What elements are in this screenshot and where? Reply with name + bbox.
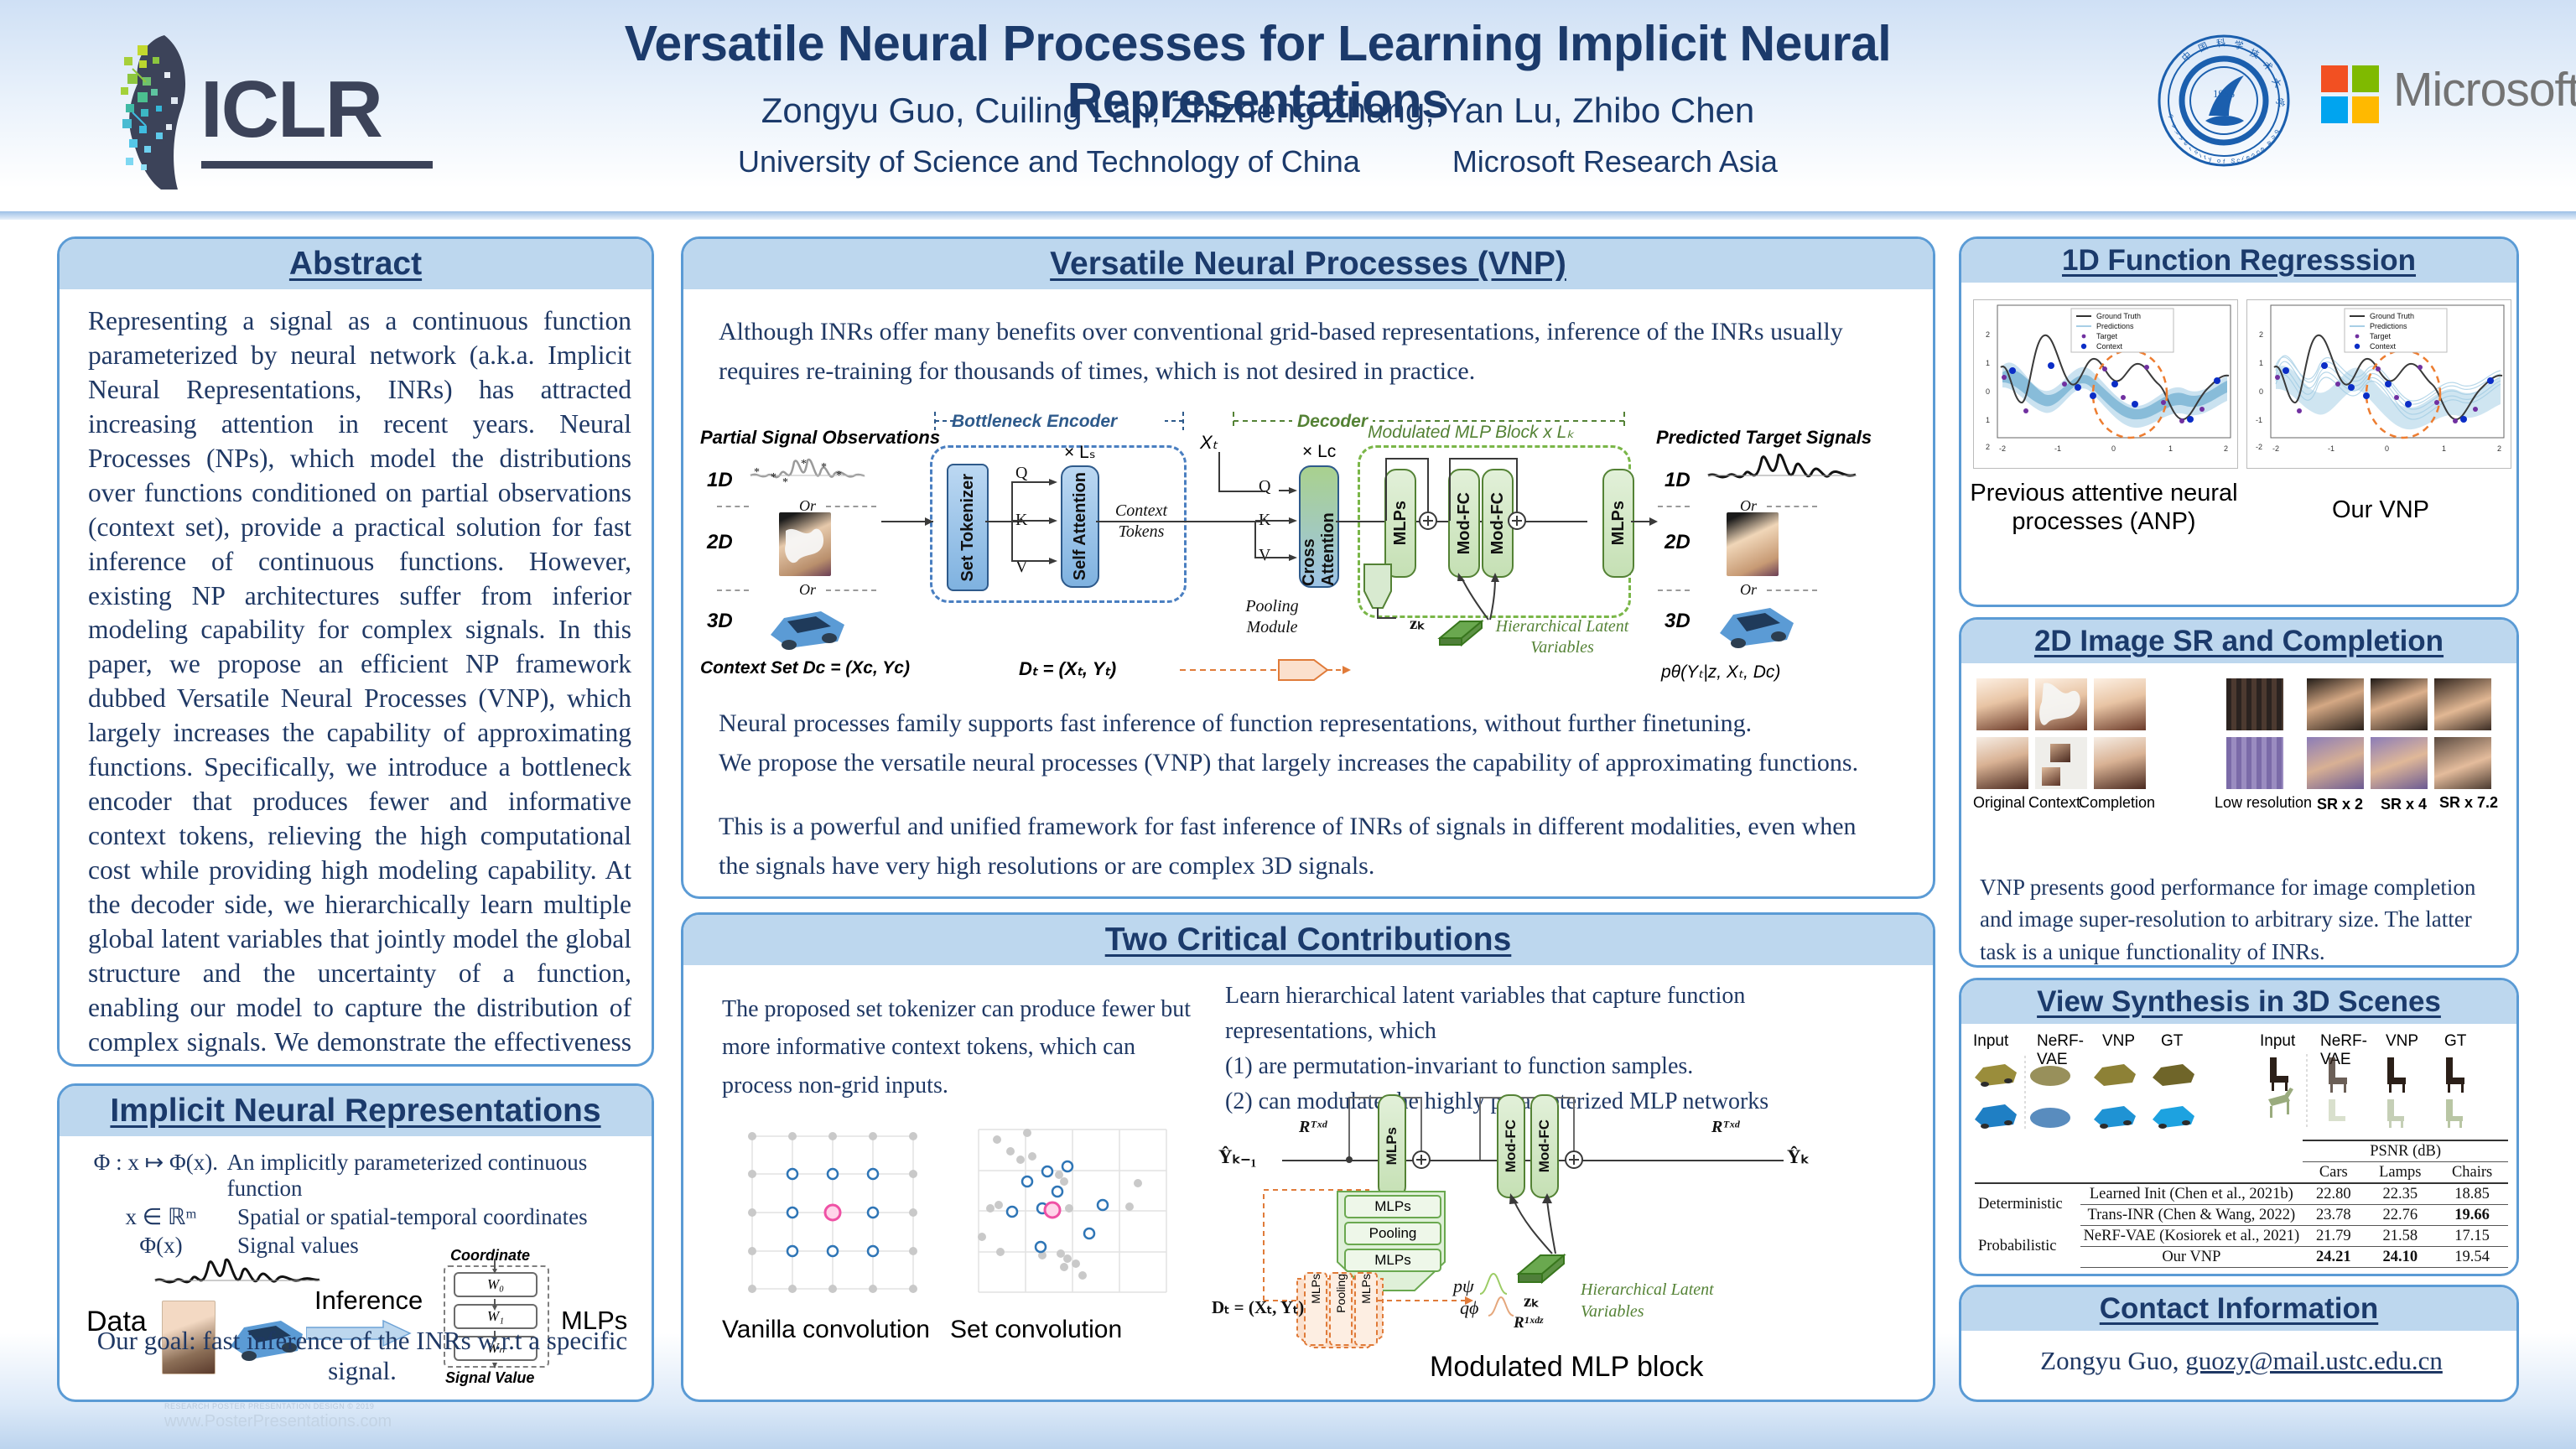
- inr-symbol: x ∈ ℝᵐ: [85, 1204, 237, 1230]
- mask-overlay-icon: [779, 512, 831, 576]
- cross-qkv-arrows-icon: [1254, 484, 1301, 568]
- input-arrowhead-icon: [925, 516, 937, 527]
- vs-header-vnp-cars: VNP: [2102, 1032, 2135, 1051]
- or-dash-right-1b: [1767, 506, 1817, 507]
- microsoft-wordmark: Microsoft: [2393, 62, 2576, 117]
- psnr-col-lamps: Lamps: [2364, 1162, 2436, 1184]
- poster-footer: RESEARCH POSTER PRESENTATION DESIGN © 20…: [164, 1402, 392, 1431]
- mlp-block-zk-label: zₖ: [1524, 1291, 1539, 1311]
- vs-header-gt-cars: GT: [2161, 1032, 2183, 1051]
- vnp-outro-line-2: We propose the versatile neural processe…: [719, 744, 1893, 783]
- psnr-method-nerf-vae: NeRF-VAE (Kosiorek et al., 2021): [2080, 1226, 2303, 1247]
- anp-plot-caption: Previous attentive neural processes (ANP…: [1970, 479, 2238, 536]
- svg-text:i: i: [2199, 152, 2202, 159]
- mlp-block-modfc-label-1: Mod-FC: [1503, 1119, 1519, 1172]
- abstract-text: Representing a signal as a continuous fu…: [88, 304, 631, 1067]
- latent-modfc-arrows-icon: [1504, 1192, 1596, 1257]
- sr-x4-1: [2371, 678, 2428, 730]
- contribution-left-text: The proposed set tokenizer can produce f…: [722, 990, 1192, 1104]
- contact-name: Zongyu Guo,: [2040, 1346, 2185, 1375]
- svg-text:2: 2: [1986, 330, 1990, 339]
- target-flow-arrow-icon: [1180, 655, 1373, 685]
- affiliation-2: Microsoft Research Asia: [1452, 144, 1778, 179]
- self-attention-label: Self Attention: [1071, 472, 1090, 580]
- mlp-block-input-label: Ŷₖ₋₁: [1218, 1146, 1256, 1168]
- psnr-value: 21.58: [2364, 1226, 2436, 1247]
- svg-text:-2: -2: [2272, 444, 2279, 453]
- ms-square-green: [2352, 65, 2379, 92]
- function-regression-panel: 1D Function Regresssion: [1959, 236, 2519, 607]
- posterior-dashed-path-icon: [1260, 1166, 1478, 1309]
- svg-text:学: 学: [2273, 96, 2287, 108]
- table-row: Deterministic Learned Init (Chen et al.,…: [1975, 1183, 2508, 1205]
- vs-header-input-chairs: Input: [2260, 1032, 2295, 1051]
- iclr-brain-icon: [112, 32, 205, 191]
- inr-definition-row: Φ : x ↦ Φ(x). An implicitly parameterize…: [85, 1150, 638, 1202]
- inr-inference-label: Inference: [314, 1285, 423, 1316]
- svg-text:学: 学: [2234, 39, 2245, 51]
- mlp-block-mlps-label: MLPs: [1384, 1127, 1400, 1165]
- svg-text:*: *: [801, 458, 807, 470]
- psnr-group-probabilistic: Probabilistic: [1975, 1226, 2080, 1268]
- psnr-col-cars: Cars: [2303, 1162, 2364, 1184]
- completion-result-2: [2094, 737, 2146, 789]
- psnr-metric-header-row: PSNR (dB): [1975, 1140, 2508, 1162]
- cars-render-row: [1971, 1051, 2215, 1133]
- contact-line: Zongyu Guo, guozy@mail.ustc.edu.cn: [1961, 1346, 2519, 1376]
- svg-text:o: o: [2217, 157, 2220, 164]
- cross-attention-label: Cross Attention: [1300, 467, 1338, 586]
- microsoft-logo: Microsoft: [2321, 65, 2556, 132]
- vnp-plot-caption: Our VNP: [2246, 496, 2515, 524]
- microsoft-squares-icon: [2321, 65, 2380, 124]
- set-convolution-caption: Set convolution: [950, 1316, 1122, 1344]
- contact-panel: Contact Information Zongyu Guo, guozy@ma…: [1959, 1285, 2519, 1402]
- svg-text:*: *: [754, 466, 760, 479]
- view-synthesis-panel: View Synthesis in 3D Scenes Input NeRF-V…: [1959, 978, 2519, 1276]
- psnr-table: PSNR (dB) Cars Lamps Chairs Deterministi…: [1975, 1140, 2508, 1268]
- q-phi-label: qϕ: [1460, 1297, 1478, 1319]
- modality-1d-left: 1D: [707, 469, 733, 492]
- ms-square-yellow: [2352, 96, 2379, 123]
- svg-text:0: 0: [2259, 387, 2263, 396]
- ms-square-blue: [2321, 96, 2348, 123]
- context-tokens-line: [1096, 521, 1260, 522]
- psnr-value: 24.21: [2303, 1247, 2364, 1268]
- ustc-year: 1958: [2213, 87, 2235, 100]
- legend-context-right: Context: [2370, 342, 2397, 351]
- sr-lowres-2: [2226, 737, 2283, 789]
- context-patch-b: [2042, 767, 2060, 786]
- predicted-waveform-icon: [1706, 454, 1857, 494]
- author-list: Zongyu Guo, Cuiling Lan, Zhizheng Zhang,…: [436, 91, 2080, 131]
- iclr-wordmark: ICLR: [200, 64, 382, 156]
- modality-2d-right: 2D: [1665, 531, 1690, 554]
- modulated-mlp-repeat: Modulated MLP Block x Lₖ: [1368, 422, 1574, 443]
- latent-to-modfc-arrows-icon: [1455, 571, 1530, 623]
- mlp-block-modfc-2: Mod-FC: [1530, 1094, 1559, 1198]
- or-dash-left-2a: [717, 589, 749, 591]
- svg-text:2: 2: [2224, 444, 2228, 453]
- vnp-outro-text: Neural processes family supports fast in…: [719, 704, 1893, 885]
- psnr-group-deterministic: Deterministic: [1975, 1183, 2080, 1226]
- psnr-value: 17.15: [2436, 1226, 2508, 1247]
- psnr-value: 23.78: [2303, 1205, 2364, 1226]
- contact-email-link[interactable]: guozy@mail.ustc.edu.cn: [2185, 1346, 2443, 1375]
- mlp-block-dim-z: R¹ˣᵈᶻ: [1514, 1314, 1543, 1332]
- svg-text:1: 1: [1986, 359, 1990, 367]
- inr-definitions: Φ : x ↦ Φ(x). An implicitly parameterize…: [85, 1150, 638, 1261]
- sr-caption-lowres: Low resolution: [2215, 794, 2312, 812]
- self-attention-block: Self Attention: [1061, 465, 1099, 588]
- context-patch-a: [2050, 744, 2070, 762]
- psnr-method-trans-inr: Trans-INR (Chen & Wang, 2022): [2080, 1205, 2303, 1226]
- psnr-value: 21.79: [2303, 1226, 2364, 1247]
- completion-context-1: [2035, 678, 2087, 730]
- svg-text:0: 0: [2111, 444, 2116, 453]
- sr-x72-1: [2434, 678, 2491, 730]
- completion-result-1: [2094, 678, 2146, 730]
- svg-text:-1: -1: [2256, 416, 2262, 424]
- vnp-outro-gap: [719, 782, 1893, 808]
- psnr-metric-header: PSNR (dB): [2303, 1140, 2508, 1162]
- output-arrowhead-icon: [1649, 516, 1661, 527]
- modulated-mlp-block-diagram: Ŷₖ₋₁ Rᵀˣᵈ Rᵀˣᵈ Ŷₖ MLPs Mod-FC Mod-FC: [1212, 1066, 1883, 1351]
- sr-x2-2: [2307, 737, 2364, 789]
- svg-text:*: *: [836, 470, 842, 482]
- inr-description: Spatial or spatial-temporal coordinates: [237, 1204, 588, 1230]
- vnp-outro-line-3: This is a powerful and unified framework…: [719, 808, 1893, 885]
- poster-canvas: ICLR Versatile Neural Processes for Lear…: [0, 0, 2576, 1449]
- inr-goal-text: Our goal: fast inference of the INRs w.r…: [81, 1326, 643, 1386]
- svg-text:*: *: [782, 476, 788, 489]
- psnr-value: 18.85: [2436, 1183, 2508, 1205]
- abstract-panel: Abstract Representing a signal as a cont…: [57, 236, 654, 1067]
- header-divider: [0, 211, 2576, 220]
- or-dash-left-1a: [717, 506, 749, 507]
- mlp-block-dim-in: Rᵀˣᵈ: [1299, 1118, 1327, 1137]
- svg-text:2: 2: [2497, 444, 2501, 453]
- decoder-mlps-label-2: MLPs: [1609, 501, 1628, 545]
- vs-header-vnp-chairs: VNP: [2386, 1032, 2418, 1051]
- image-sr-note: VNP presents good performance for image …: [1980, 871, 2508, 968]
- self-attention-repeat: × Lₛ: [1064, 442, 1096, 463]
- svg-text:-1: -1: [2054, 444, 2061, 453]
- poster-header: ICLR Versatile Neural Processes for Lear…: [0, 0, 2576, 211]
- inr-panel: Implicit Neural Representations Φ : x ↦ …: [57, 1083, 654, 1402]
- sr-lowres-1: [2226, 678, 2283, 730]
- set-convolution-diagram: [965, 1124, 1175, 1301]
- svg-text:-2: -2: [1999, 444, 2006, 453]
- anp-plot: Ground Truth Predictions Target Context …: [1973, 299, 2238, 469]
- ms-square-red: [2321, 65, 2348, 92]
- completion-caption-completion: Completion: [2079, 794, 2155, 812]
- svg-text:2: 2: [2259, 330, 2263, 339]
- abstract-title: Abstract: [60, 239, 652, 289]
- vnp-panel: Versatile Neural Processes (VNP) Althoug…: [681, 236, 1935, 899]
- legend-context-left: Context: [2096, 342, 2123, 351]
- sr-x72-2: [2434, 737, 2491, 789]
- vnp-architecture-diagram: Partial Signal Observations Bottleneck E…: [700, 407, 1921, 700]
- vs-header-input-cars: Input: [1973, 1032, 2008, 1051]
- target-set-label: Dₜ = (Xₜ, Yₜ): [1019, 658, 1116, 680]
- svg-text:1: 1: [2168, 444, 2173, 453]
- footer-website: www.PosterPresentations.com: [164, 1412, 392, 1431]
- prior-dist-icon: [1478, 1270, 1509, 1296]
- legend-predictions-left: Predictions: [2096, 322, 2134, 330]
- inr-description: An implicitly parameterized continuous f…: [227, 1150, 638, 1202]
- legend-target-left: Target: [2096, 332, 2118, 340]
- pooling-module-label: Pooling Module: [1227, 596, 1317, 638]
- ustc-logo: 1958 中 国 科 学 技 术 大 学 U n i v e r: [2157, 34, 2291, 168]
- svg-text:科: 科: [2215, 36, 2226, 49]
- vs-header-gt-chairs: GT: [2444, 1032, 2466, 1051]
- dt-label: Dₜ = (Xₜ, Yₜ): [1212, 1297, 1304, 1318]
- completion-original-1: [1976, 678, 2028, 730]
- sr-x2-1: [2307, 678, 2364, 730]
- modulated-mlp-block-caption: Modulated MLP block: [1430, 1351, 1703, 1384]
- svg-text:0: 0: [1986, 387, 1990, 396]
- waveform-icon: [153, 1255, 321, 1302]
- or-dash-right-2a: [1658, 589, 1690, 591]
- vanilla-convolution-diagram: [734, 1124, 943, 1301]
- or-dash-left-1b: [826, 506, 876, 507]
- face-context-thumbnail: [779, 512, 831, 576]
- sr-caption-x2: SR x 2: [2317, 796, 2363, 813]
- vnp-intro-text: Although INRs offer many benefits over c…: [719, 313, 1893, 391]
- psnr-value: 24.10: [2364, 1247, 2436, 1268]
- face-predicted-thumbnail: [1727, 512, 1779, 576]
- predicted-signals-label: Predicted Target Signals: [1656, 427, 1872, 449]
- mlp-block-modfc-1: Mod-FC: [1497, 1094, 1525, 1198]
- sr-caption-x72: SR x 7.2: [2439, 794, 2498, 812]
- legend-predictions-right: Predictions: [2370, 322, 2407, 330]
- contribution-right-line-2: representations, which: [1225, 1014, 1829, 1049]
- contributions-panel: Two Critical Contributions The proposed …: [681, 912, 1935, 1402]
- decoder-mlps-block-2: MLPs: [1602, 469, 1634, 578]
- vnp-plot: Ground Truth Predictions Target Context …: [2246, 299, 2511, 469]
- svg-text:y: y: [2208, 155, 2212, 163]
- vnp-title: Versatile Neural Processes (VNP): [683, 239, 1933, 289]
- vnp-outro-line-1: Neural processes family supports fast in…: [719, 704, 1893, 744]
- view-synthesis-title: View Synthesis in 3D Scenes: [1961, 980, 2516, 1024]
- psnr-value: 19.54: [2436, 1247, 2508, 1268]
- footer-credit-line: RESEARCH POSTER PRESENTATION DESIGN © 20…: [164, 1402, 392, 1410]
- output-distribution-label: pθ(Yₜ|z, Xₜ, Dᴄ): [1661, 662, 1780, 683]
- modality-2d-left: 2D: [707, 531, 733, 554]
- psnr-value: 22.76: [2364, 1205, 2436, 1226]
- completion-original-2: [1976, 737, 2028, 789]
- legend-target-right: Target: [2370, 332, 2392, 340]
- svg-text:t: t: [2204, 153, 2207, 161]
- psnr-value: 19.66: [2436, 1205, 2508, 1226]
- sr-x4-2: [2371, 737, 2428, 789]
- set-tokenizer-label: Set Tokenizer: [958, 474, 978, 582]
- table-row: Probabilistic NeRF-VAE (Kosiorek et al.,…: [1975, 1226, 2508, 1247]
- svg-text:*: *: [821, 461, 827, 474]
- psnr-value: 22.35: [2364, 1183, 2436, 1205]
- encoder-bracket-icon: [933, 410, 1185, 432]
- chairs-render-row: [2258, 1051, 2501, 1133]
- residual-connections-icon: [1368, 450, 1602, 543]
- cross-attention-repeat: × Lᴄ: [1302, 442, 1336, 462]
- context-set-label: Context Set Dᴄ = (Xᴄ, Yᴄ): [700, 658, 910, 678]
- psnr-method-our-vnp: Our VNP: [2080, 1247, 2303, 1268]
- svg-text:大: 大: [2269, 75, 2284, 90]
- svg-text:-2: -2: [2256, 443, 2262, 451]
- xt-vline: [1218, 452, 1220, 491]
- or-dash-right-1a: [1658, 506, 1690, 507]
- svg-text:2: 2: [1986, 443, 1990, 451]
- legend-ground-truth-left: Ground Truth: [2096, 312, 2141, 320]
- partial-observations-label: Partial Signal Observations: [700, 427, 940, 449]
- contribution-right-line-1: Learn hierarchical latent variables that…: [1225, 979, 1829, 1014]
- modality-1d-right: 1D: [1665, 469, 1690, 492]
- mlp-block-output-label: Ŷₖ: [1787, 1146, 1809, 1168]
- psnr-col-chairs: Chairs: [2436, 1162, 2508, 1184]
- svg-text:1: 1: [2259, 359, 2263, 367]
- affiliation-list: University of Science and Technology of …: [436, 144, 2080, 179]
- posterior-dist-icon: [1487, 1294, 1515, 1317]
- sr-caption-x4: SR x 4: [2381, 796, 2427, 813]
- svg-text:1: 1: [1986, 416, 1990, 424]
- cross-attention-block: Cross Attention: [1299, 465, 1339, 588]
- qkv-arrows-icon: [1009, 470, 1062, 578]
- svg-text:0: 0: [2385, 444, 2389, 453]
- modality-3d-right: 3D: [1665, 610, 1690, 633]
- svg-text:-1: -1: [2328, 444, 2334, 453]
- inr-title: Implicit Neural Representations: [60, 1086, 652, 1136]
- set-tokenizer-block: Set Tokenizer: [947, 464, 989, 591]
- iclr-logo: ICLR: [20, 20, 439, 196]
- function-regression-title: 1D Function Regresssion: [1961, 239, 2516, 283]
- modality-3d-left: 3D: [707, 610, 733, 633]
- xt-label: Xₜ: [1200, 432, 1218, 454]
- image-sr-title: 2D Image SR and Completion: [1961, 620, 2516, 663]
- hierarchical-latents-label: Hierarchical Latent Variables: [1495, 616, 1629, 658]
- context-mask-icon-1: [2035, 678, 2087, 730]
- affiliation-1: University of Science and Technology of …: [738, 144, 1360, 179]
- mlp-block-modfc-label-2: Mod-FC: [1536, 1119, 1553, 1172]
- vanilla-convolution-caption: Vanilla convolution: [722, 1316, 930, 1344]
- context-waveform-icon: *** ***: [749, 455, 866, 492]
- contact-title: Contact Information: [1961, 1287, 2516, 1331]
- car-context-icon: [762, 598, 854, 657]
- contributions-title: Two Critical Contributions: [683, 915, 1933, 965]
- mlp-block-hierarchical-label: Hierarchical Latent Variables: [1581, 1279, 1740, 1322]
- inr-definition-row: x ∈ ℝᵐ Spatial or spatial-temporal coord…: [85, 1204, 638, 1230]
- psnr-value: 22.80: [2303, 1183, 2364, 1205]
- car-predicted-icon: [1711, 595, 1804, 657]
- svg-text:*: *: [771, 471, 776, 484]
- zk-label: zₖ: [1410, 613, 1425, 634]
- svg-text:1: 1: [2442, 444, 2446, 453]
- or-dash-left-2b: [826, 589, 876, 591]
- or-dash-right-2b: [1767, 589, 1817, 591]
- completion-caption-context: Context: [2028, 794, 2080, 812]
- inr-symbol: Φ : x ↦ Φ(x).: [85, 1150, 227, 1176]
- psnr-column-header-row: Cars Lamps Chairs: [1975, 1162, 2508, 1184]
- pooling-funnel-icon: [1359, 563, 1396, 623]
- legend-ground-truth-right: Ground Truth: [2370, 312, 2414, 320]
- image-sr-panel: 2D Image SR and Completion Original Cont…: [1959, 617, 2519, 968]
- completion-context-2: [2035, 737, 2087, 789]
- psnr-method-learned-init: Learned Init (Chen et al., 2021b): [2080, 1183, 2303, 1205]
- iclr-underline: [201, 161, 433, 169]
- svg-text:U: U: [2167, 112, 2175, 120]
- completion-caption-original: Original: [1973, 794, 2025, 812]
